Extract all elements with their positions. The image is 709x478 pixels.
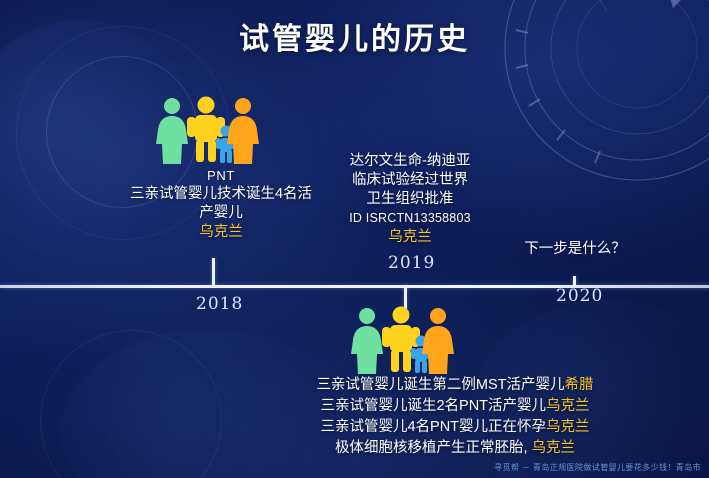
timeline-tick-2018 <box>212 258 215 286</box>
darwin-line-1: 达尔文生命-纳迪亚 <box>326 152 494 171</box>
darwin-line-2: 临床试验经过世界 <box>326 171 494 190</box>
next-step-block: 下一步是什么？ <box>505 240 645 259</box>
watermark-text: 寻觅帮 － 青岛正规医院做试管婴儿要花多少钱！青岛市 <box>494 462 701 473</box>
year2019-row-text: 三亲试管婴儿诞生2名PNT活产婴儿 <box>320 398 546 414</box>
darwin-text-block: 达尔文生命-纳迪亚 临床试验经过世界 卫生组织批准 ID ISRCTN13358… <box>326 152 494 247</box>
year2019-row-country: 希腊 <box>565 377 594 393</box>
year2019-row-text: 三亲试管婴儿诞生第二例MST活产婴儿 <box>316 377 564 393</box>
pnt-line-3: 产婴儿 <box>106 204 336 223</box>
year2019-row: 三亲试管婴儿诞生第二例MST活产婴儿希腊 <box>280 375 630 396</box>
darwin-country: 乌克兰 <box>326 228 494 247</box>
year2019-row-country: 乌克兰 <box>546 419 590 435</box>
family-group-icon-2019 <box>349 306 455 379</box>
background-ring-bottom <box>40 330 222 478</box>
darwin-trial-id: ID ISRCTN13358803 <box>326 209 494 228</box>
page-title: 试管婴儿的历史 <box>0 14 709 58</box>
year2019-row: 三亲试管婴儿诞生2名PNT活产婴儿乌克兰 <box>280 396 630 417</box>
timeline-year-2020: 2020 <box>556 286 603 306</box>
year2019-row-country: 乌克兰 <box>546 398 590 414</box>
next-step-text: 下一步是什么？ <box>505 240 645 259</box>
year2019-text-block: 三亲试管婴儿诞生第二例MST活产婴儿希腊 三亲试管婴儿诞生2名PNT活产婴儿乌克… <box>280 375 630 459</box>
slide-root: 试管婴儿的历史 2018 2019 2020 <box>0 0 709 478</box>
pnt-line-2: 三亲试管婴儿技术诞生4名活 <box>106 185 336 204</box>
timeline-year-2018: 2018 <box>196 294 243 314</box>
year2019-row-text: 三亲试管婴儿4名PNT婴儿正在怀孕 <box>320 419 546 435</box>
pnt-text-block: PNT 三亲试管婴儿技术诞生4名活 产婴儿 乌克兰 <box>106 166 336 242</box>
pnt-country: 乌克兰 <box>106 223 336 242</box>
timeline-tick-2020 <box>573 276 576 286</box>
darwin-line-3: 卫生组织批准 <box>326 190 494 209</box>
pnt-line-1: PNT <box>106 166 336 185</box>
family-group-icon-2018 <box>154 96 260 169</box>
year2019-row-text: 极体细胞核移植产生正常胚胎, <box>335 440 532 456</box>
timeline-year-2019: 2019 <box>388 253 435 273</box>
year2019-row-country: 乌克兰 <box>532 440 576 456</box>
year2019-row: 极体细胞核移植产生正常胚胎, 乌克兰 <box>280 438 630 459</box>
year2019-row: 三亲试管婴儿4名PNT婴儿正在怀孕乌克兰 <box>280 417 630 438</box>
